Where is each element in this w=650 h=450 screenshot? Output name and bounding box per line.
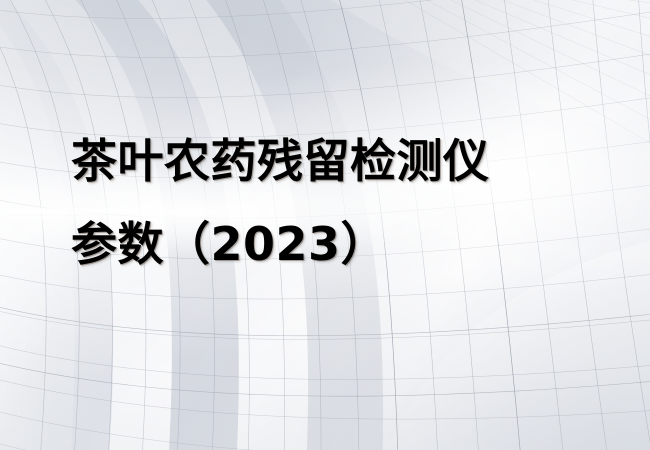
slide-title: 茶叶农药残留检测仪 参数（2023）	[71, 120, 591, 286]
slide-title-line-1: 茶叶农药残留检测仪	[71, 120, 591, 203]
title-slide: 茶叶农药残留检测仪 参数（2023）	[0, 0, 650, 450]
slide-title-line-2: 参数（2023）	[71, 203, 591, 286]
